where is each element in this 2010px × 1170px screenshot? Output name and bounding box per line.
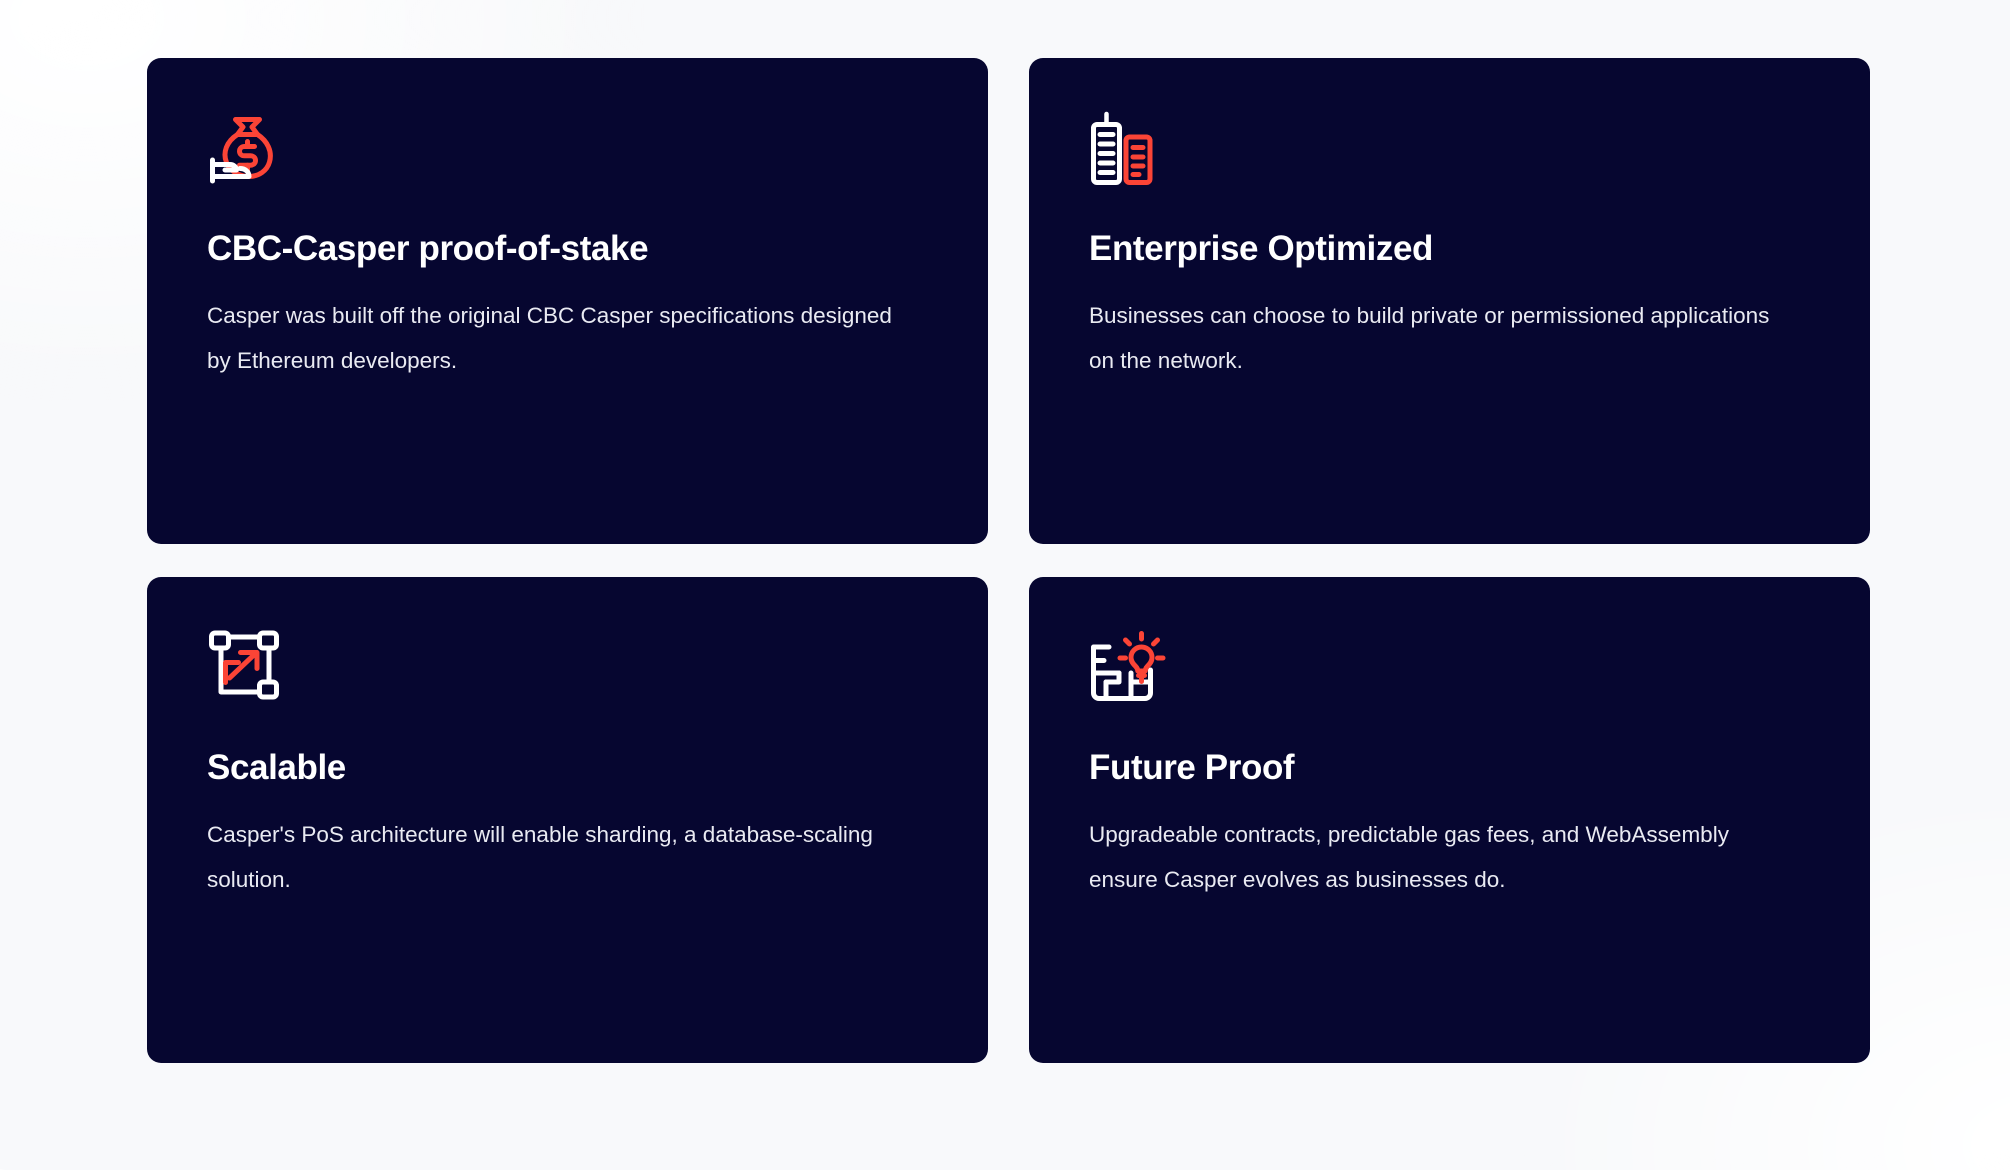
card-title: Scalable [207,748,928,788]
office-buildings-icon [1089,111,1167,189]
card-description: Upgradeable contracts, predictable gas f… [1089,812,1779,902]
feature-card-enterprise-optimized[interactable]: Enterprise Optimized Businesses can choo… [1029,58,1870,544]
card-description: Casper was built off the original CBC Ca… [207,293,897,383]
feature-card-cbc-casper-proof-of-stake[interactable]: CBC-Casper proof-of-stake Casper was bui… [147,58,988,544]
page-canvas: CBC-Casper proof-of-stake Casper was bui… [0,0,2010,1126]
card-title: Future Proof [1089,748,1810,788]
money-bag-in-hand-icon [207,111,285,189]
card-description: Businesses can choose to build private o… [1089,293,1779,383]
feature-card-grid: CBC-Casper proof-of-stake Casper was bui… [147,58,1870,1063]
blueprint-lightbulb-icon [1089,630,1167,708]
card-title: CBC-Casper proof-of-stake [207,229,928,269]
card-title: Enterprise Optimized [1089,229,1810,269]
feature-card-scalable[interactable]: Scalable Casper's PoS architecture will … [147,577,988,1063]
feature-card-future-proof[interactable]: Future Proof Upgradeable contracts, pred… [1029,577,1870,1063]
scale-resize-arrow-icon [207,630,285,708]
card-description: Casper's PoS architecture will enable sh… [207,812,897,902]
